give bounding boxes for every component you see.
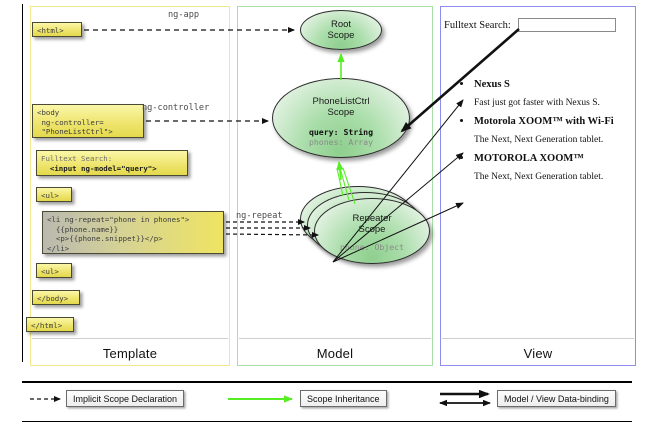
scope-root-title-2: Scope	[301, 30, 381, 42]
view-item-name: Nexus S	[474, 78, 632, 91]
code-box-body-open: <body ng-controller= "PhoneListCtrl">	[32, 104, 144, 138]
view-search-input[interactable]	[518, 18, 616, 32]
scope-repeater: Repeater Scope phone: Object	[314, 198, 430, 264]
code-box-search-input: Fulltext Search: <input ng-model="query"…	[36, 150, 188, 176]
panel-template: Template	[30, 6, 230, 366]
view-item-snippet: The Next, Next Generation tablet.	[474, 171, 632, 183]
panel-template-label: Template	[31, 346, 229, 361]
view-item-name: MOTOROLA XOOM™	[474, 152, 632, 165]
code-box-body-close: </body>	[32, 290, 80, 305]
code-box-li-ngrepeat: <li ng-repeat="phone in phones"> {{phone…	[42, 211, 224, 254]
bullet-icon	[460, 82, 463, 85]
view-item-snippet: The Next, Next Generation tablet.	[474, 134, 632, 146]
list-item: Motorola XOOM™ with Wi-Fi The Next, Next…	[460, 115, 632, 146]
edge-label-ng-app: ng-app	[168, 10, 199, 20]
scope-root: Root Scope	[300, 10, 382, 50]
code-box-html-open: <html>	[32, 22, 82, 37]
legend-item-model-view-data-binding: Model / View Data-binding	[497, 390, 616, 407]
view-search-label: Fulltext Search:	[444, 20, 511, 31]
view-item-snippet: Fast just got faster with Nexus S.	[474, 97, 632, 109]
legend-glyph-databinding	[440, 394, 490, 403]
legend-bottom-rule	[22, 421, 632, 422]
code-box-html-close: </html>	[26, 317, 74, 332]
scope-phonelistctrl: PhoneListCtrl Scope query: String phones…	[272, 78, 410, 158]
bullet-icon	[460, 156, 463, 159]
panel-model-label: Model	[238, 346, 432, 361]
scope-prop-phones: phones: Array	[309, 137, 373, 147]
panel-template-divider	[32, 338, 228, 339]
scope-root-title-1: Root	[301, 19, 381, 31]
edge-label-ng-controller: ng-controller	[142, 103, 209, 113]
legend-top-rule	[22, 381, 632, 383]
diagram-root: Template <html> <body ng-controller= "Ph…	[0, 0, 645, 425]
code-box-ul-open: <ul>	[36, 187, 72, 202]
code-box-search-code: <input ng-model="query">	[41, 164, 157, 173]
code-box-search-label: Fulltext Search:	[41, 154, 112, 163]
outer-frame-left-rule	[22, 4, 23, 362]
scope-phonelistctrl-title-2: Scope	[273, 107, 409, 119]
code-box-ul-close: <ul>	[36, 263, 72, 278]
scope-phonelistctrl-title-1: PhoneListCtrl	[273, 96, 409, 108]
edge-label-ng-repeat: ng-repeat	[236, 211, 283, 221]
panel-model: Model	[237, 6, 433, 366]
scope-repeater-title-1: Repeater	[315, 213, 429, 225]
view-phone-list: Nexus S Fast just got faster with Nexus …	[460, 78, 632, 189]
view-item-name: Motorola XOOM™ with Wi-Fi	[474, 115, 632, 128]
bullet-icon	[460, 119, 463, 122]
panel-view-label: View	[441, 346, 635, 361]
panel-model-divider	[239, 338, 431, 339]
legend-item-scope-inheritance: Scope Inheritance	[300, 390, 387, 407]
panel-view-divider	[442, 338, 634, 339]
list-item: Nexus S Fast just got faster with Nexus …	[460, 78, 632, 109]
scope-repeater-title-2: Scope	[315, 224, 429, 236]
list-item: MOTOROLA XOOM™ The Next, Next Generation…	[460, 152, 632, 183]
scope-prop-phone: phone: Object	[340, 242, 404, 252]
scope-prop-query: query: String	[309, 127, 373, 137]
legend-item-implicit-scope-declaration: Implicit Scope Declaration	[66, 390, 184, 407]
